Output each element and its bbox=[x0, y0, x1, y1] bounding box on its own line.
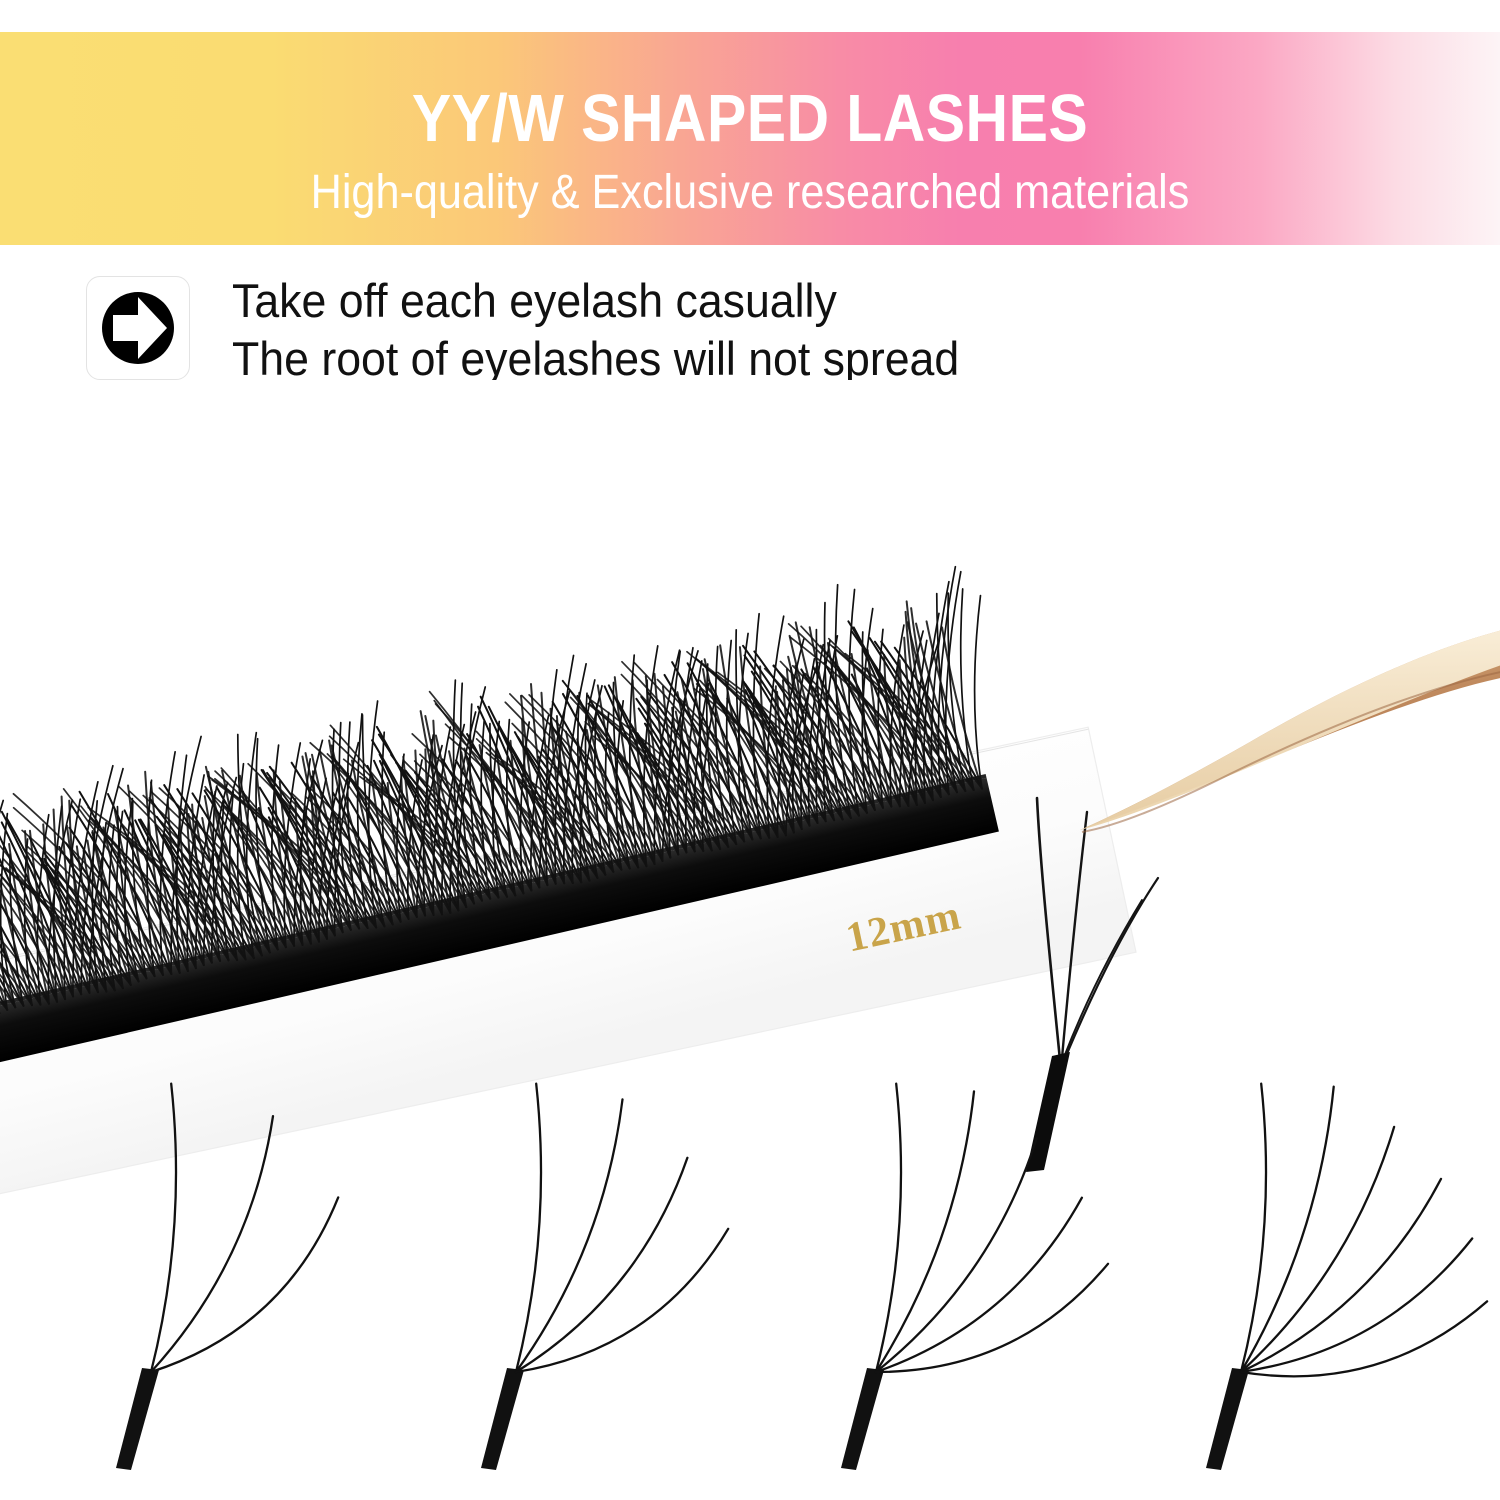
header-banner: YY/W SHAPED LASHES High-quality & Exclus… bbox=[0, 32, 1500, 245]
tweezer bbox=[1080, 628, 1500, 832]
banner-subtitle: High-quality & Exclusive researched mate… bbox=[75, 166, 1425, 220]
banner-title: YY/W SHAPED LASHES bbox=[90, 84, 1410, 154]
instruction-line-1: Take off each eyelash casually bbox=[232, 272, 1135, 330]
fan-6-strand bbox=[1120, 1060, 1490, 1500]
instruction-text: Take off each eyelash casually The root … bbox=[232, 272, 1182, 388]
arrow-right-circle-icon bbox=[86, 276, 190, 380]
fan-4-strand bbox=[395, 1060, 765, 1500]
fan-specimen-row bbox=[0, 1060, 1500, 1500]
fan-5-strand bbox=[755, 1060, 1125, 1500]
product-marketing-image: YY/W SHAPED LASHES High-quality & Exclus… bbox=[0, 0, 1500, 1500]
instruction-block: Take off each eyelash casually The root … bbox=[86, 276, 1186, 386]
fan-3-strand bbox=[30, 1060, 400, 1500]
